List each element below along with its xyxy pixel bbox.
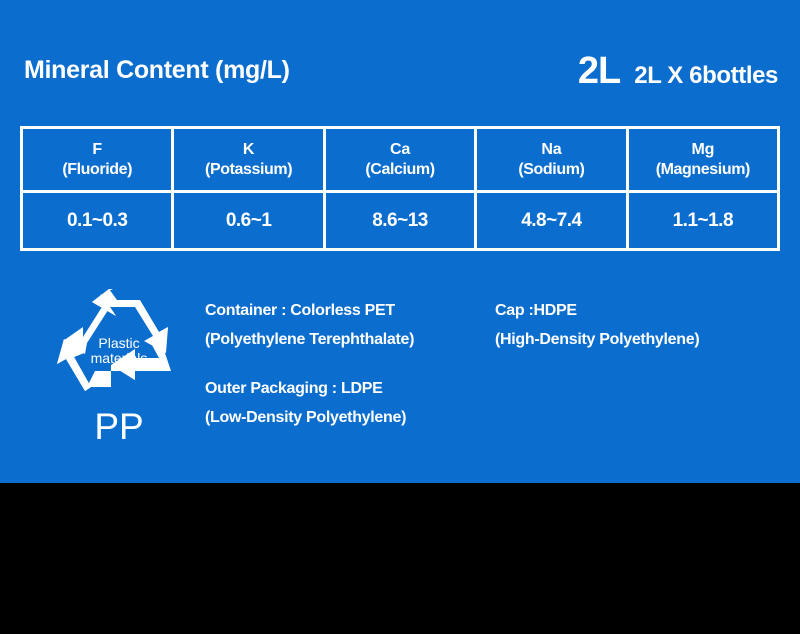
material-cap-info: Cap :HDPE (High-Density Polyethylene) [495, 296, 699, 354]
mineral-name: (Sodium) [518, 160, 584, 180]
table-value-cell-k: 0.6~1 [171, 190, 322, 248]
material-container-line1: Container : Colorless PET [205, 296, 414, 325]
table-header-cell-f: F (Fluoride) [23, 129, 171, 190]
volume-group: 2L 2L X 6bottles [578, 52, 778, 90]
page-title: Mineral Content (mg/L) [24, 56, 290, 85]
material-container-line2: (Polyethylene Terephthalate) [205, 325, 414, 354]
table-value-cell-ca: 8.6~13 [323, 190, 474, 248]
mineral-name: (Magnesium) [656, 160, 750, 180]
mineral-symbol: Mg [691, 140, 714, 160]
mineral-symbol: F [92, 140, 102, 160]
table-value-cell-na: 4.8~7.4 [474, 190, 625, 248]
table-value-cell-f: 0.1~0.3 [23, 190, 171, 248]
mineral-value: 4.8~7.4 [521, 211, 581, 230]
material-cap-line2: (High-Density Polyethylene) [495, 325, 699, 354]
mineral-name: (Calcium) [365, 160, 434, 180]
mineral-symbol: K [243, 140, 254, 160]
mineral-value: 0.6~1 [226, 211, 272, 230]
product-label-panel: Mineral Content (mg/L) 2L 2L X 6bottles … [0, 0, 800, 634]
material-outer-line2: (Low-Density Polyethylene) [205, 403, 406, 432]
table-header-row: F (Fluoride) K (Potassium) Ca (Calcium) … [23, 129, 777, 190]
mineral-value: 0.1~0.3 [67, 211, 127, 230]
table-header-cell-ca: Ca (Calcium) [323, 129, 474, 190]
table-header-cell-na: Na (Sodium) [474, 129, 625, 190]
recycling-arrows-icon [55, 283, 183, 401]
table-value-row: 0.1~0.3 0.6~1 8.6~13 4.8~7.4 1.1~1.8 [23, 190, 777, 248]
black-background [0, 483, 800, 634]
mineral-value: 1.1~1.8 [673, 211, 733, 230]
recycling-code-label: PP [55, 408, 183, 445]
material-cap-line1: Cap :HDPE [495, 296, 699, 325]
mineral-value: 8.6~13 [372, 211, 428, 230]
table-header-cell-mg: Mg (Magnesium) [626, 129, 777, 190]
volume-size-label: 2L [578, 52, 620, 90]
mineral-symbol: Ca [390, 140, 410, 160]
material-outer-packaging-info: Outer Packaging : LDPE (Low-Density Poly… [205, 374, 406, 432]
mineral-symbol: Na [541, 140, 561, 160]
mineral-name: (Fluoride) [62, 160, 132, 180]
mineral-name: (Potassium) [205, 160, 292, 180]
material-container-info: Container : Colorless PET (Polyethylene … [205, 296, 414, 354]
volume-pack-label: 2L X 6bottles [634, 64, 778, 88]
table-header-cell-k: K (Potassium) [171, 129, 322, 190]
mineral-content-table: F (Fluoride) K (Potassium) Ca (Calcium) … [20, 126, 780, 251]
table-value-cell-mg: 1.1~1.8 [626, 190, 777, 248]
material-outer-line1: Outer Packaging : LDPE [205, 374, 406, 403]
